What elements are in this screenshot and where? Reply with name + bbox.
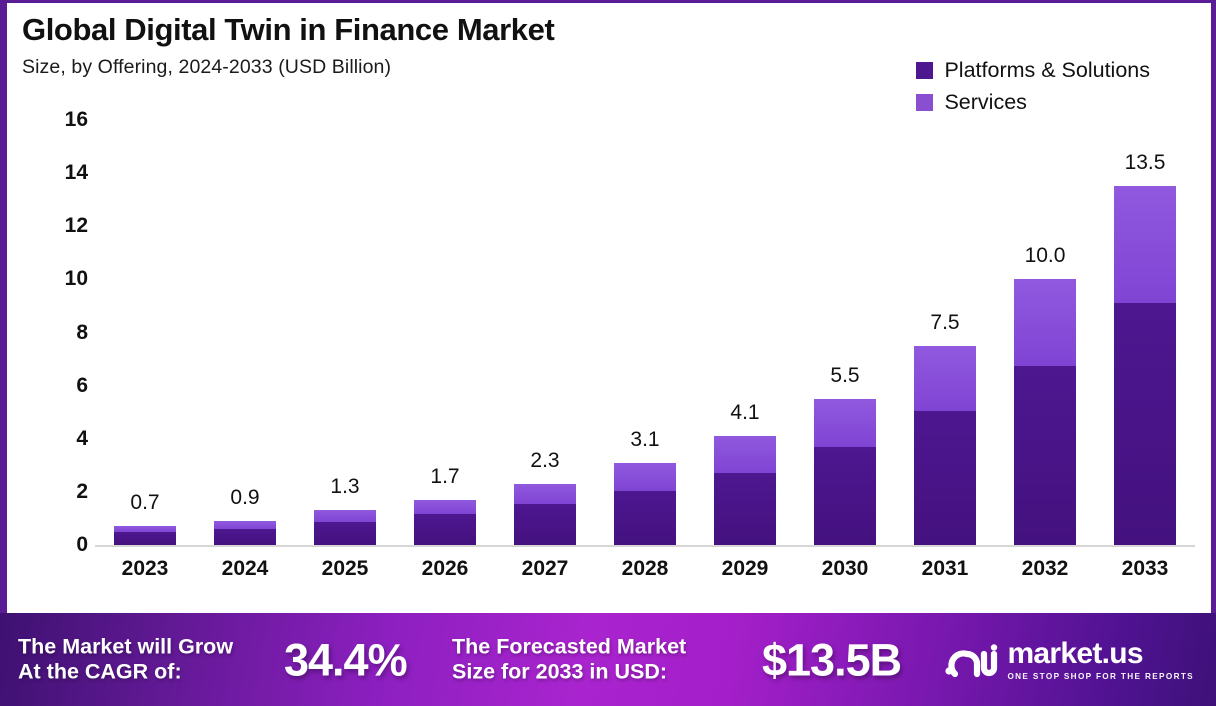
forecast-caption-line2: Size for 2033 in USD: [452, 660, 686, 685]
forecast-value: $13.5B [762, 637, 901, 682]
bar-stack[interactable] [714, 436, 776, 545]
logo-text-block: market.us ONE STOP SHOP FOR THE REPORTS [1007, 639, 1194, 681]
forecast-caption-line1: The Forecasted Market [452, 634, 686, 659]
bar-segment-platforms-solutions[interactable] [814, 447, 876, 545]
y-axis-tick-label: 2 [36, 480, 88, 504]
bar-stack[interactable] [614, 463, 676, 545]
bar-segment-services[interactable] [214, 521, 276, 528]
bar-value-label: 5.5 [830, 364, 859, 388]
logo-wordmark: market.us [1007, 639, 1194, 669]
bar-segment-services[interactable] [614, 463, 676, 491]
frame-border-top [0, 0, 1216, 3]
bar-value-label: 2.3 [530, 449, 559, 473]
bar-segment-services[interactable] [914, 346, 976, 411]
cagr-caption: The Market will Grow At the CAGR of: [18, 634, 233, 685]
x-axis-tick-label: 2029 [722, 557, 769, 581]
bar-value-label: 7.5 [930, 311, 959, 335]
x-axis-tick-label: 2031 [922, 557, 969, 581]
logo-tagline: ONE STOP SHOP FOR THE REPORTS [1007, 672, 1194, 681]
bar-value-label: 4.1 [730, 401, 759, 425]
bar-segment-services[interactable] [514, 484, 576, 504]
forecast-caption: The Forecasted Market Size for 2033 in U… [452, 634, 686, 685]
x-axis-tick-label: 2030 [822, 557, 869, 581]
bar-stack[interactable] [114, 526, 176, 545]
y-axis-tick-label: 0 [36, 533, 88, 557]
bar-stack[interactable] [814, 399, 876, 545]
bar-segment-services[interactable] [814, 399, 876, 447]
bar-segment-services[interactable] [1114, 186, 1176, 303]
bar-segment-platforms-solutions[interactable] [114, 532, 176, 545]
market-us-logo-icon [944, 640, 998, 680]
bar-segment-platforms-solutions[interactable] [1114, 303, 1176, 545]
bar-segment-platforms-solutions[interactable] [1014, 366, 1076, 545]
cagr-caption-line1: The Market will Grow [18, 634, 233, 659]
bar-segment-services[interactable] [1014, 279, 1076, 365]
frame-border-left [0, 0, 7, 613]
bar-segment-services[interactable] [314, 510, 376, 521]
bar-segment-platforms-solutions[interactable] [514, 504, 576, 545]
bar-segment-services[interactable] [714, 436, 776, 473]
cagr-caption-line2: At the CAGR of: [18, 660, 233, 685]
y-axis-tick-label: 6 [36, 374, 88, 398]
x-axis-tick-label: 2024 [222, 557, 269, 581]
x-axis-tick-label: 2027 [522, 557, 569, 581]
brand-logo[interactable]: market.us ONE STOP SHOP FOR THE REPORTS [944, 639, 1194, 681]
y-axis-tick-label: 12 [36, 214, 88, 238]
y-axis-tick-label: 10 [36, 267, 88, 291]
x-axis-tick-label: 2026 [422, 557, 469, 581]
y-axis-tick-label: 16 [36, 108, 88, 132]
y-axis-tick-label: 8 [36, 321, 88, 345]
bar-stack[interactable] [1114, 186, 1176, 545]
bar-value-label: 13.5 [1125, 151, 1166, 175]
bar-segment-platforms-solutions[interactable] [214, 529, 276, 545]
plot-area: 0246810121416 0.70.91.31.72.33.14.15.57.… [0, 0, 1216, 613]
x-axis-tick-label: 2033 [1122, 557, 1169, 581]
bar-segment-platforms-solutions[interactable] [414, 514, 476, 545]
bar-stack[interactable] [1014, 279, 1076, 545]
bar-stack[interactable] [414, 500, 476, 545]
bar-stack[interactable] [214, 521, 276, 545]
y-axis-tick-label: 14 [36, 161, 88, 185]
x-axis-line [95, 545, 1195, 547]
x-axis-tick-label: 2028 [622, 557, 669, 581]
bar-value-label: 3.1 [630, 428, 659, 452]
chart-infographic: Global Digital Twin in Finance Market Si… [0, 0, 1216, 706]
bar-segment-platforms-solutions[interactable] [714, 473, 776, 545]
x-axis-tick-label: 2023 [122, 557, 169, 581]
bar-series-container: 0.70.91.31.72.33.14.15.57.510.013.5 [95, 120, 1195, 545]
x-axis-tick-label: 2032 [1022, 557, 1069, 581]
bar-stack[interactable] [914, 346, 976, 545]
footer-banner: The Market will Grow At the CAGR of: 34.… [0, 613, 1216, 706]
bar-segment-platforms-solutions[interactable] [614, 491, 676, 545]
bar-segment-platforms-solutions[interactable] [914, 411, 976, 545]
bar-value-label: 0.9 [230, 486, 259, 510]
bar-value-label: 0.7 [130, 491, 159, 515]
x-axis: 2023202420252026202720282029203020312032… [95, 557, 1195, 597]
bar-value-label: 10.0 [1025, 244, 1066, 268]
bar-stack[interactable] [514, 484, 576, 545]
y-axis-tick-label: 4 [36, 427, 88, 451]
bar-stack[interactable] [314, 510, 376, 545]
bar-segment-services[interactable] [414, 500, 476, 515]
bar-value-label: 1.3 [330, 475, 359, 499]
x-axis-tick-label: 2025 [322, 557, 369, 581]
frame-border-right [1211, 0, 1216, 613]
bar-value-label: 1.7 [430, 465, 459, 489]
bar-segment-platforms-solutions[interactable] [314, 522, 376, 545]
y-axis: 0246810121416 [36, 0, 88, 613]
cagr-value: 34.4% [284, 637, 407, 682]
